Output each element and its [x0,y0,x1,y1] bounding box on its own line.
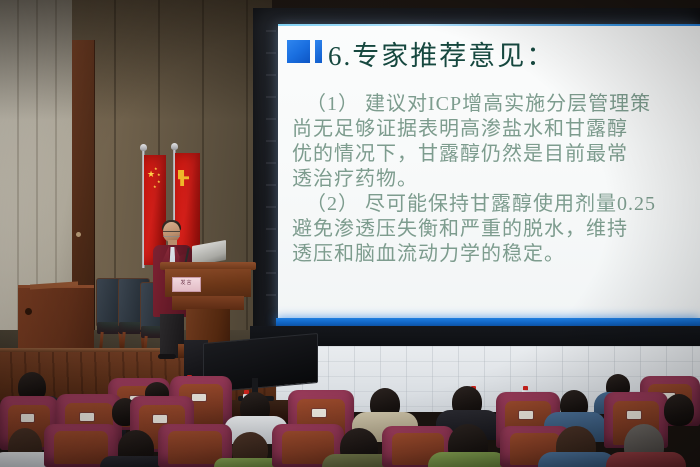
podium-sign: 发言 [172,277,201,292]
wall-top-shadow [0,0,272,120]
seat-number-plate [312,409,327,417]
slide-line-6: 避免渗透压失衡和严重的脱水，维持 [292,218,700,241]
seat-cushion [54,431,107,465]
podium-sign-label: 发言 [173,278,200,289]
slide-bullet-square-icon [287,40,310,63]
flagpole-cap-right [171,143,178,150]
seat-number-plate [627,411,641,419]
seat-number-plate [192,394,206,402]
podium-midsection [172,296,244,310]
slide-line-4: 透治疗药物。 [292,168,700,191]
audience-shoulders [538,452,616,467]
slide-line-2: 尚无足够证据表明高渗盐水和甘露醇 [292,118,700,141]
audience-shoulders [606,452,686,467]
side-table-cable-hole [25,308,32,315]
slide-line-1: （1） 建议对ICP增高实施分层管理策 [292,93,700,116]
chair-leg-left [99,332,103,348]
door-knob [76,232,81,237]
slide-body: （1） 建议对ICP增高实施分层管理策 尚无足够证据表明高渗盐水和甘露醇 优的情… [292,93,700,268]
audience-head [664,394,694,426]
seat-number-plate [80,413,95,421]
seat-number-plate [519,411,533,419]
flagpole-cap-left [140,144,147,151]
seat-number-plate [21,414,34,422]
slide-bullet-bar-icon [315,40,322,63]
slide-line-5: （2） 尽可能保持甘露醇使用剂量0.25 [292,193,700,216]
slide-title: 6.专家推荐意见： [328,34,555,73]
seat-cushion [168,431,221,465]
conference-photo-scene: 6.专家推荐意见： （1） 建议对ICP增高实施分层管理策 尚无足够证据表明高渗… [0,0,700,467]
screen-frame-perforations [266,30,276,310]
presenter-glasses-icon [163,231,180,237]
audience-shoulders [428,452,508,467]
chair-leg-left [121,332,125,348]
slide-line-3: 优的情况下，甘露醇仍然是目前最常 [292,143,700,166]
presentation-slide: 6.专家推荐意见： （1） 建议对ICP增高实施分层管理策 尚无足够证据表明高渗… [278,26,700,320]
podium-front-panel: 发言 [165,269,251,297]
seat-number-plate [153,415,167,423]
slide-line-7: 透压和脑血流动力学的稳定。 [292,243,700,266]
